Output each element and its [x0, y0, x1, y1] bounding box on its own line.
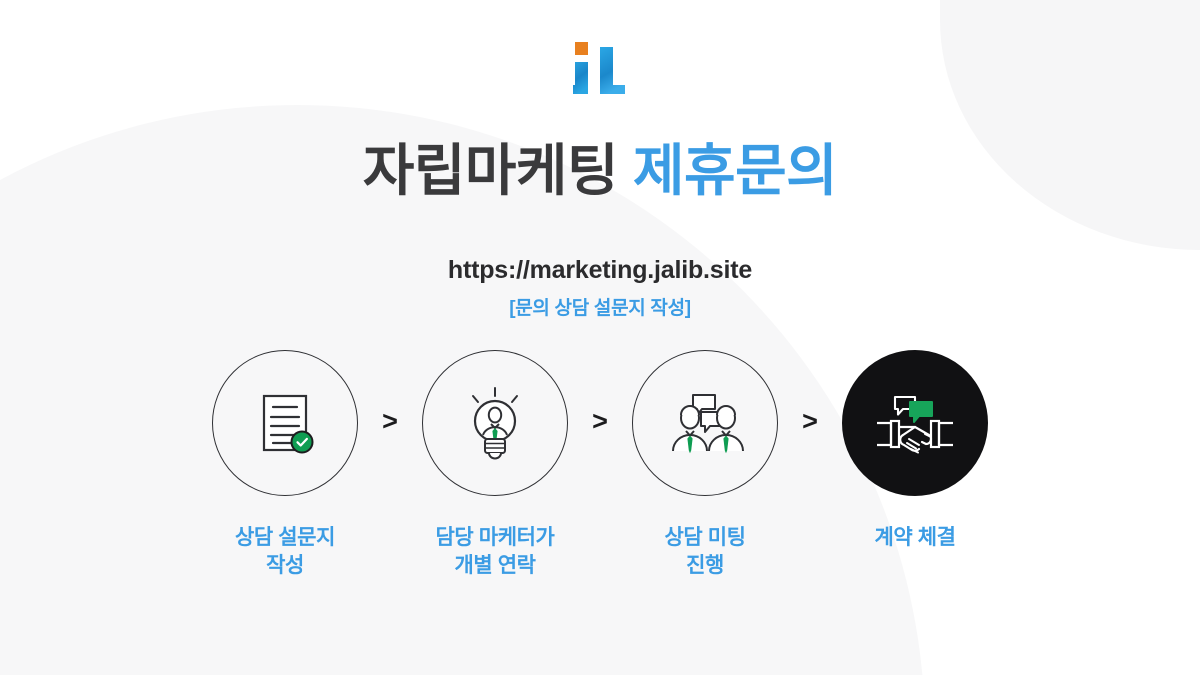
step-3-circle: [632, 350, 778, 496]
lightbulb-person-icon: [452, 380, 538, 466]
handshake-chat-icon: [869, 377, 961, 469]
step-arrow-1: >: [359, 408, 421, 435]
step-4[interactable]: 계약 체결: [841, 350, 989, 552]
step-arrow-3: >: [779, 408, 841, 435]
document-check-icon: [242, 380, 328, 466]
step-2[interactable]: 담당 마케터가 개별 연락: [421, 350, 569, 580]
two-people-chat-icon: [659, 377, 751, 469]
step-2-circle: [422, 350, 568, 496]
step-4-label: 계약 체결: [874, 524, 955, 552]
process-steps: 상담 설문지 작성 >: [0, 350, 1200, 580]
brand-logo: [0, 36, 1200, 102]
survey-url-caption: [문의 상담 설문지 작성]: [0, 293, 1200, 320]
step-3-label: 상담 미팅 진행: [664, 524, 745, 580]
jalib-logo-icon: [565, 40, 635, 102]
step-1-label: 상담 설문지 작성: [235, 524, 335, 580]
step-3[interactable]: 상담 미팅 진행: [631, 350, 779, 580]
page-title: 자립마케팅 제휴문의: [0, 140, 1200, 202]
slide-canvas: 자립마케팅 제휴문의 https://marketing.jalib.site …: [0, 0, 1200, 675]
step-arrow-2: >: [569, 408, 631, 435]
page-title-part2: 제휴문의: [633, 139, 837, 202]
step-2-label: 담당 마케터가 개별 연락: [436, 524, 555, 580]
survey-url[interactable]: https://marketing.jalib.site: [0, 255, 1200, 286]
url-block: https://marketing.jalib.site [문의 상담 설문지 …: [0, 255, 1200, 320]
page-title-part1: 자립마케팅: [363, 139, 618, 202]
step-1[interactable]: 상담 설문지 작성: [211, 350, 359, 580]
step-4-circle: [842, 350, 988, 496]
step-1-circle: [212, 350, 358, 496]
